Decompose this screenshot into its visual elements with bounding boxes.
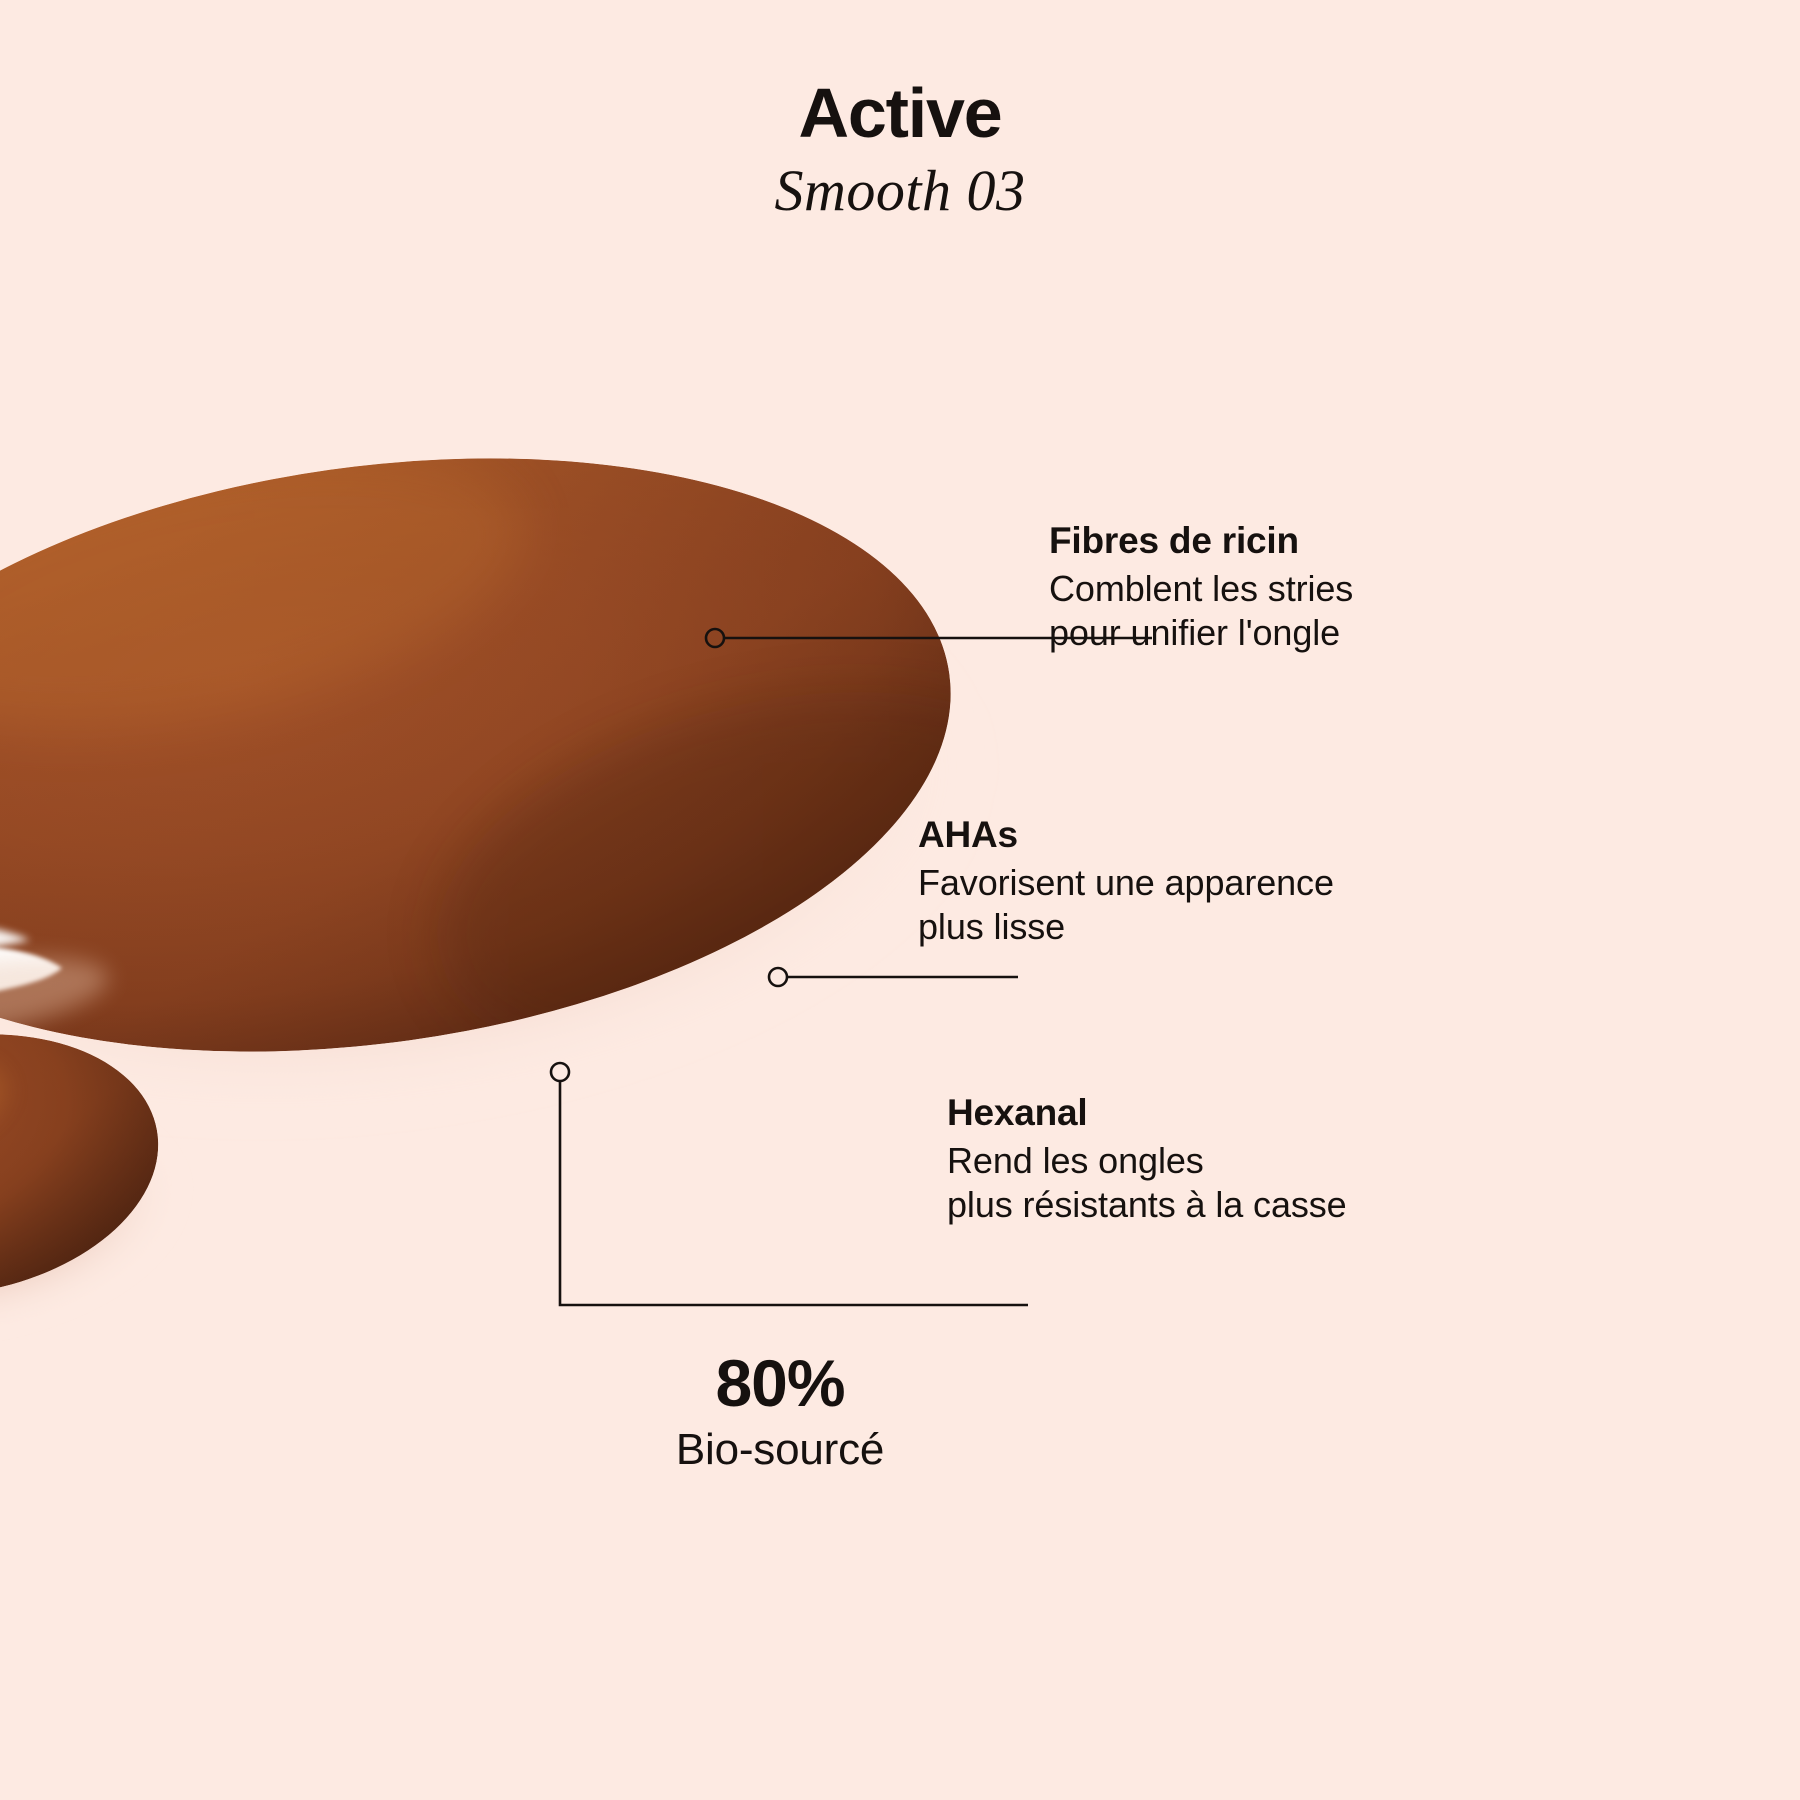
annotation-ahas: AHAs Favorisent une apparence plus lisse [918,814,1334,949]
bio-sourced-stat: 80% Bio-sourcé [0,1350,1560,1472]
stat-label: Bio-sourcé [0,1428,1560,1472]
page-subtitle: Smooth 03 [0,162,1800,220]
annotation-fibres-de-ricin: Fibres de ricin Comblent les stries pour… [1049,520,1353,655]
annotation-line: plus résistants à la casse [947,1183,1347,1227]
annotation-line: Favorisent une apparence [918,861,1334,905]
annotation-title: Hexanal [947,1092,1347,1135]
droplet-artwork [0,0,1800,1800]
annotation-title: Fibres de ricin [1049,520,1353,563]
annotation-line: pour unifier l'ongle [1049,611,1353,655]
annotation-title: AHAs [918,814,1334,857]
stat-value: 80% [0,1350,1560,1416]
annotation-hexanal: Hexanal Rend les ongles plus résistants … [947,1092,1347,1227]
product-ingredient-infographic: Active Smooth 03 Fibres de ricin Comblen… [0,0,1800,1800]
annotation-line: Comblent les stries [1049,567,1353,611]
annotation-line: plus lisse [918,905,1334,949]
page-title: Active [0,78,1800,148]
annotation-line: Rend les ongles [947,1139,1347,1183]
page-header: Active Smooth 03 [0,78,1800,220]
